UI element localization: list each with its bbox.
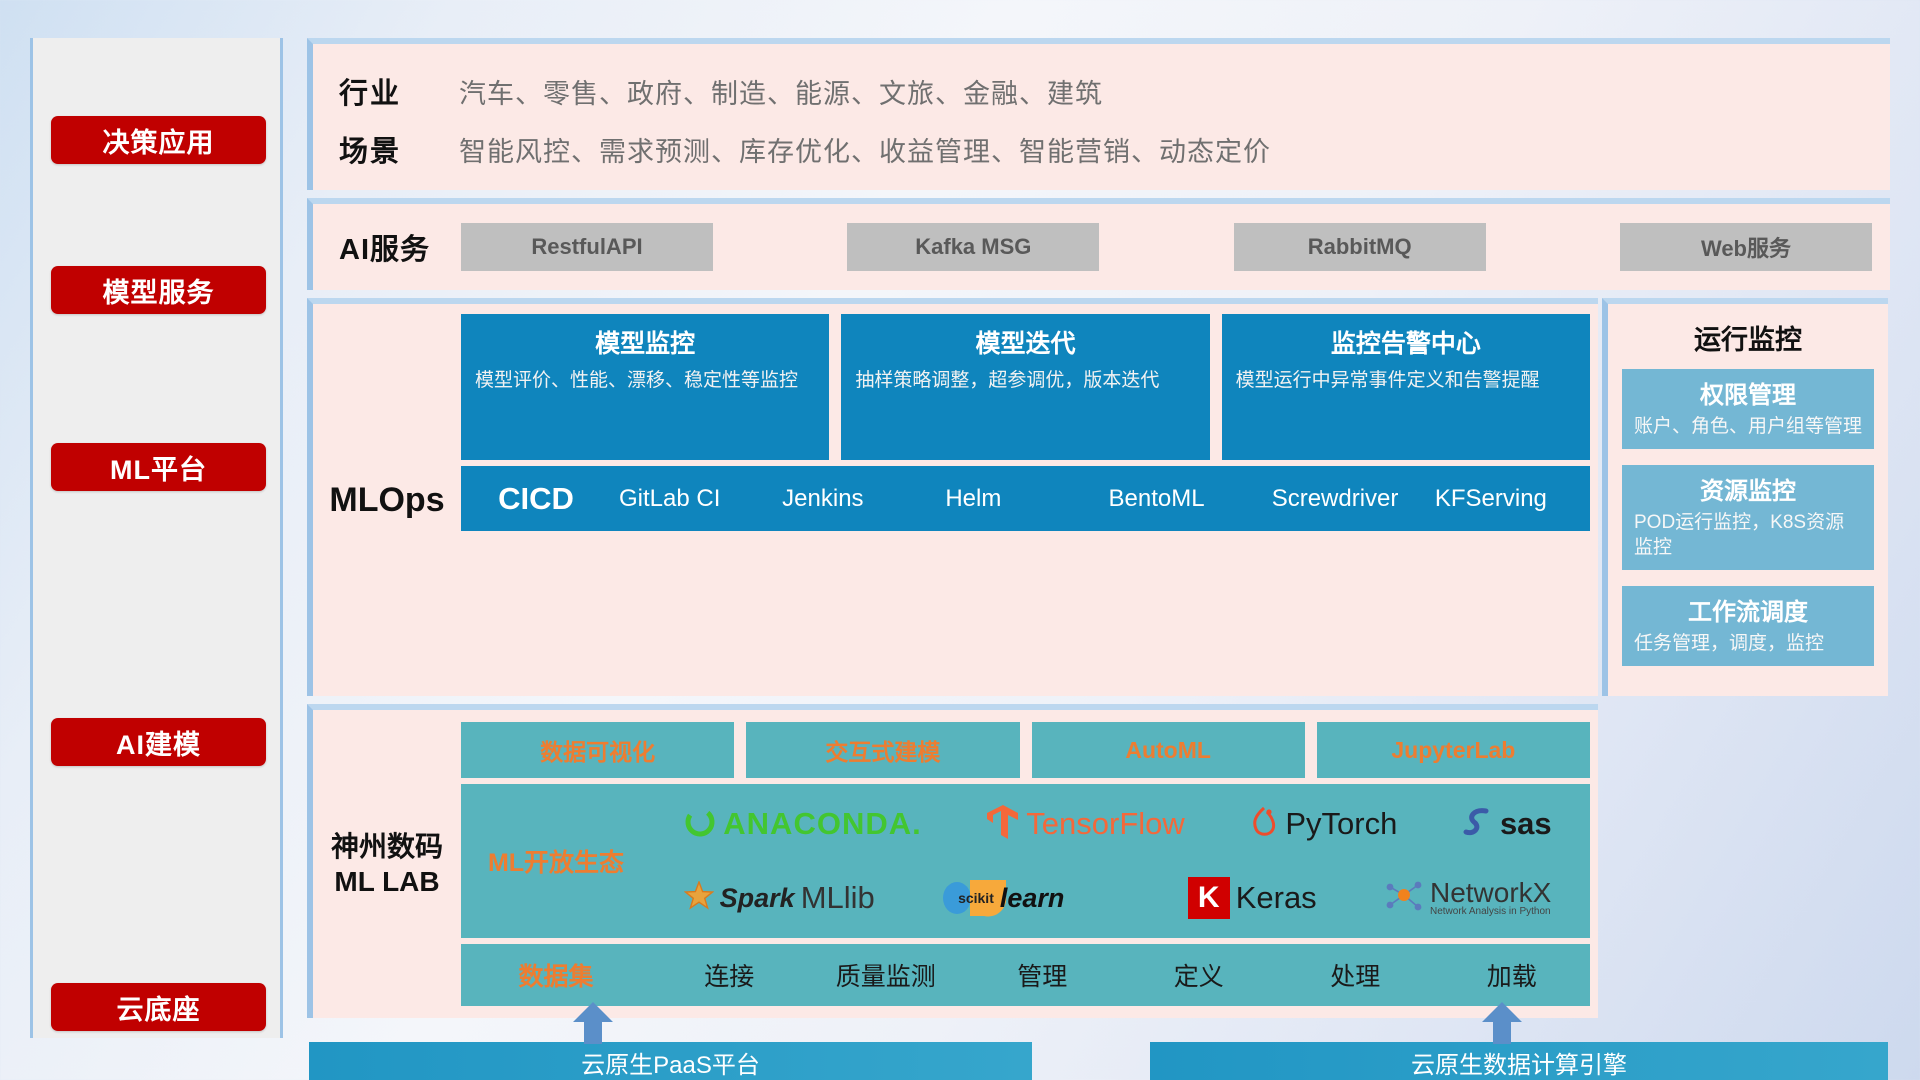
mlops-card-list: 模型监控 模型评价、性能、漂移、稳定性等监控 模型迭代 抽样策略调整，超参调优，… (461, 314, 1590, 460)
mlops-card-alert-center[interactable]: 监控告警中心 模型运行中异常事件定义和告警提醒 (1222, 314, 1590, 460)
industry-key: 行业 (339, 70, 459, 112)
cicd-item-kfserving[interactable]: KFServing (1427, 486, 1590, 511)
mlops-label: MLOps (313, 314, 461, 686)
runtime-monitor-title: 运行监控 (1622, 318, 1874, 357)
ai-service-list: RestfulAPI Kafka MSG RabbitMQ Web服务 (461, 223, 1890, 271)
card-title: 资源监控 (1634, 471, 1862, 506)
tensorflow-icon (986, 803, 1020, 846)
ml-lab-band: 神州数码 ML LAB 数据可视化 交互式建模 AutoML JupyterLa… (307, 704, 1890, 1018)
ml-lab-body: 数据可视化 交互式建模 AutoML JupyterLab ML开放生态 (461, 722, 1590, 1006)
sas-swirl-icon (1462, 805, 1494, 844)
anaconda-logo: ANACONDA. (683, 805, 921, 844)
cloud-data-engine-title: 云原生数据计算引擎 (1150, 1042, 1888, 1080)
cloud-link-gap (1032, 1042, 1150, 1080)
tab-data-visualization[interactable]: 数据可视化 (461, 722, 734, 778)
scenario-value: 智能风控、需求预测、库存优化、收益管理、智能营销、动态定价 (459, 130, 1271, 169)
keras-k-icon: K (1188, 877, 1230, 919)
ml-ecosystem-label: ML开放生态 (461, 843, 651, 879)
dataset-item-manage[interactable]: 管理 (964, 957, 1121, 993)
ai-service-band: AI服务 RestfulAPI Kafka MSG RabbitMQ Web服务 (307, 198, 1890, 290)
dataset-row: 数据集 连接 质量监测 管理 定义 处理 加载 (461, 944, 1590, 1006)
monitor-card-workflow[interactable]: 工作流调度 任务管理，调度，监控 (1622, 586, 1874, 666)
layer-chip-model-service[interactable]: 模型服务 (51, 266, 266, 314)
sas-logo-text: sas (1500, 806, 1552, 842)
cloud-data-engine-column: 云原生数据计算引擎 Kafka Spark Presto Flink Hadoo… (1150, 1042, 1888, 1080)
layer-chip-decision-app[interactable]: 决策应用 (51, 116, 266, 164)
card-title: 模型迭代 (855, 324, 1195, 360)
cloud-paas-title: 云原生PaaS平台 (309, 1042, 1032, 1080)
card-desc: 任务管理，调度，监控 (1634, 631, 1862, 656)
card-desc: POD运行监控，K8S资源监控 (1634, 510, 1862, 560)
mlops-card-model-monitoring[interactable]: 模型监控 模型评价、性能、漂移、稳定性等监控 (461, 314, 829, 460)
ai-service-label: AI服务 (339, 226, 461, 268)
cicd-title: CICD (461, 481, 611, 517)
networkx-tagline: Network Analysis in Python (1430, 907, 1551, 917)
pytorch-flame-icon (1249, 804, 1279, 845)
anaconda-icon (683, 805, 717, 844)
ml-lab-label: 神州数码 ML LAB (313, 722, 461, 1006)
dataset-label: 数据集 (461, 957, 651, 993)
tensorflow-logo: TensorFlow (986, 803, 1185, 846)
logo-row-1: ANACONDA. TensorFlow (651, 788, 1584, 860)
dataset-item-process[interactable]: 处理 (1277, 957, 1434, 993)
mlops-band: MLOps 模型监控 模型评价、性能、漂移、稳定性等监控 模型迭代 抽样策略调整… (307, 298, 1890, 696)
industry-value: 汽车、零售、政府、制造、能源、文旅、金融、建筑 (459, 72, 1103, 111)
card-desc: 抽样策略调整，超参调优，版本迭代 (855, 368, 1195, 393)
layer-chip-label: AI建模 (116, 723, 201, 762)
layer-chip-ai-modeling[interactable]: AI建模 (51, 718, 266, 766)
monitor-card-resource[interactable]: 资源监控 POD运行监控，K8S资源监控 (1622, 465, 1874, 570)
dataset-item-list: 连接 质量监测 管理 定义 处理 加载 (651, 957, 1590, 993)
logo-row-2: Spark MLlib scikit (651, 862, 1584, 934)
mlops-section: MLOps 模型监控 模型评价、性能、漂移、稳定性等监控 模型迭代 抽样策略调整… (307, 298, 1598, 696)
industry-scenario-band: 行业 汽车、零售、政府、制造、能源、文旅、金融、建筑 场景 智能风控、需求预测、… (307, 38, 1890, 190)
sas-logo: sas (1462, 805, 1552, 844)
spark-star-icon (684, 881, 714, 916)
ai-service-chip-restfulapi[interactable]: RestfulAPI (461, 223, 713, 271)
layer-chip-label: 决策应用 (103, 121, 215, 160)
ml-lab-label-line2: ML LAB (334, 864, 439, 899)
cicd-item-jenkins[interactable]: Jenkins (774, 486, 937, 511)
mllib-logo-text: MLlib (801, 880, 875, 916)
dataset-item-define[interactable]: 定义 (1121, 957, 1278, 993)
learn-logo-text: learn (1000, 883, 1065, 914)
spark-wordmark: Spark (720, 883, 795, 914)
layer-chip-cloud-base[interactable]: 云底座 (51, 983, 266, 1031)
pytorch-logo: PyTorch (1249, 804, 1397, 845)
scikit-wordmark: scikit (958, 890, 994, 906)
scikit-learn-logo: scikit learn (940, 874, 1122, 923)
card-desc: 账户、角色、用户组等管理 (1634, 414, 1862, 439)
up-arrow-paas-icon (571, 1000, 615, 1044)
mlops-card-model-iteration[interactable]: 模型迭代 抽样策略调整，超参调优，版本迭代 (841, 314, 1209, 460)
tab-interactive-modeling[interactable]: 交互式建模 (746, 722, 1019, 778)
monitor-card-permission[interactable]: 权限管理 账户、角色、用户组等管理 (1622, 369, 1874, 449)
tensorflow-logo-text: TensorFlow (1026, 806, 1185, 842)
networkx-graph-icon (1382, 877, 1424, 920)
cicd-item-gitlab-ci[interactable]: GitLab CI (611, 486, 774, 511)
mlops-body: 模型监控 模型评价、性能、漂移、稳定性等监控 模型迭代 抽样策略调整，超参调优，… (461, 314, 1590, 686)
layer-chip-label: ML平台 (110, 448, 207, 487)
dataset-item-load[interactable]: 加载 (1434, 957, 1591, 993)
cicd-item-helm[interactable]: Helm (937, 486, 1100, 511)
layer-chip-ml-platform[interactable]: ML平台 (51, 443, 266, 491)
lab-right-spacer (1602, 704, 1888, 1018)
card-desc: 模型运行中异常事件定义和告警提醒 (1236, 368, 1576, 393)
ml-ecosystem-logos: ANACONDA. TensorFlow (651, 788, 1590, 934)
networkx-logo: NetworkX Network Analysis in Python (1382, 877, 1551, 920)
scenario-key: 场景 (339, 128, 459, 170)
spark-mllib-logo: Spark MLlib (684, 880, 875, 916)
ai-service-chip-web-service[interactable]: Web服务 (1620, 223, 1872, 271)
industry-row: 行业 汽车、零售、政府、制造、能源、文旅、金融、建筑 (339, 62, 1876, 120)
tab-jupyterlab[interactable]: JupyterLab (1317, 722, 1590, 778)
card-title: 监控告警中心 (1236, 324, 1576, 360)
ai-service-chip-rabbitmq[interactable]: RabbitMQ (1234, 223, 1486, 271)
up-arrow-data-engine-icon (1480, 1000, 1524, 1044)
cloud-paas-column: 云原生PaaS平台 Nginx Kong Istio RocketMQ GRPC… (309, 1042, 1032, 1080)
ml-lab-tab-list: 数据可视化 交互式建模 AutoML JupyterLab (461, 722, 1590, 778)
ml-ecosystem-row: ML开放生态 ANACONDA. (461, 784, 1590, 938)
cicd-item-bentoml[interactable]: BentoML (1101, 486, 1264, 511)
pytorch-logo-text: PyTorch (1285, 806, 1397, 842)
keras-logo: K Keras (1188, 877, 1317, 919)
layer-chip-label: 云底座 (117, 988, 201, 1027)
cloud-base-band: 云原生PaaS平台 Nginx Kong Istio RocketMQ GRPC… (307, 1042, 1890, 1080)
keras-logo-text: Keras (1236, 880, 1317, 916)
cicd-bar: CICD GitLab CI Jenkins Helm BentoML Scre… (461, 466, 1590, 531)
card-desc: 模型评价、性能、漂移、稳定性等监控 (475, 368, 815, 393)
card-title: 工作流调度 (1634, 592, 1862, 627)
architecture-main: 行业 汽车、零售、政府、制造、能源、文旅、金融、建筑 场景 智能风控、需求预测、… (307, 38, 1890, 1080)
scenario-row: 场景 智能风控、需求预测、库存优化、收益管理、智能营销、动态定价 (339, 120, 1876, 178)
networkx-logo-text: NetworkX (1430, 879, 1551, 907)
layer-chip-label: 模型服务 (103, 271, 215, 310)
card-title: 权限管理 (1634, 375, 1862, 410)
cicd-item-screwdriver[interactable]: Screwdriver (1264, 486, 1427, 511)
runtime-monitor-panel: 运行监控 权限管理 账户、角色、用户组等管理 资源监控 POD运行监控，K8S资… (1602, 298, 1888, 696)
dataset-item-connect[interactable]: 连接 (651, 957, 808, 993)
anaconda-logo-text: ANACONDA. (723, 806, 921, 842)
card-title: 模型监控 (475, 324, 815, 360)
cicd-item-list: GitLab CI Jenkins Helm BentoML Screwdriv… (611, 486, 1590, 511)
dataset-item-quality-monitor[interactable]: 质量监测 (808, 957, 965, 993)
ml-lab-label-line1: 神州数码 (331, 829, 443, 864)
layer-rail: 决策应用 模型服务 ML平台 AI建模 云底座 (30, 38, 283, 1038)
tab-automl[interactable]: AutoML (1032, 722, 1305, 778)
ai-service-chip-kafka-msg[interactable]: Kafka MSG (847, 223, 1099, 271)
ml-lab-section: 神州数码 ML LAB 数据可视化 交互式建模 AutoML JupyterLa… (307, 704, 1598, 1018)
